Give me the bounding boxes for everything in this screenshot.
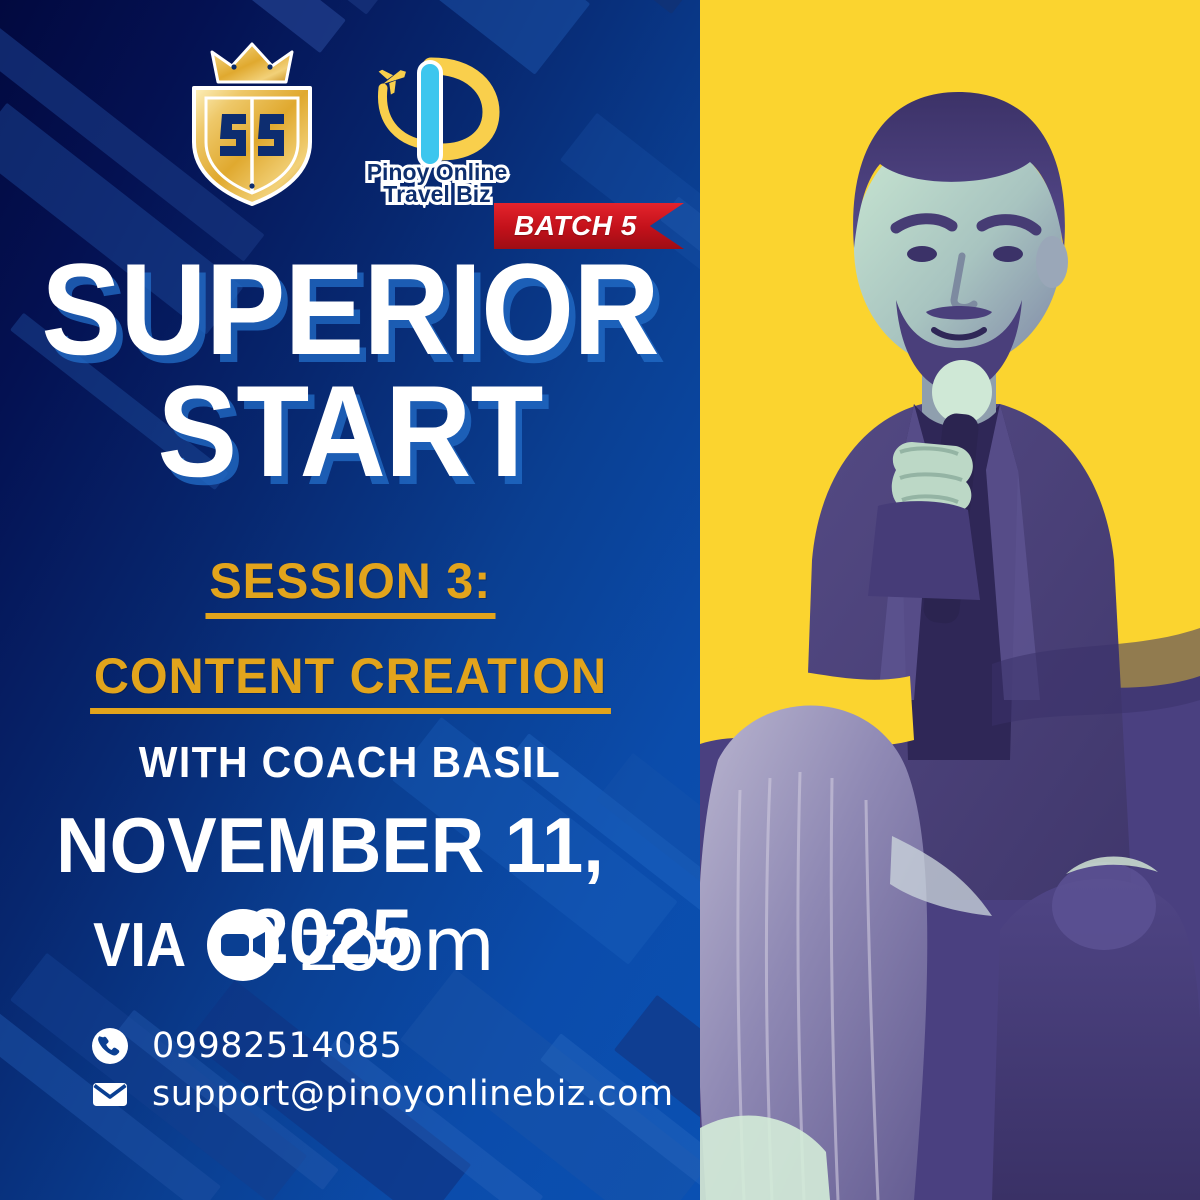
speaker-photo-panel [700,0,1200,1200]
decor-stripe [130,0,385,15]
left-content-panel: Pinoy Online Travel Biz BATCH 5 SUPERIOR… [0,0,700,1200]
event-flyer: Pinoy Online Travel Biz BATCH 5 SUPERIOR… [0,0,1200,1200]
superior-start-shield-logo [182,40,322,210]
logo-row: Pinoy Online Travel Biz [182,40,522,210]
decor-stripe [372,0,700,14]
session-line-2: CONTENT CREATION [90,647,611,714]
contact-list: 09982514085 support@pinoyonlinebiz.com [90,1026,674,1114]
via-label: VIA [93,910,186,981]
pob-wordmark-line2: Travel Biz [383,181,490,207]
platform-row: VIA zoom [88,908,493,982]
page-title: SUPERIOR START [0,252,700,489]
speaker-photo [700,0,1200,1200]
zoom-wordmark: zoom [299,908,492,982]
phone-icon [90,1026,130,1066]
session-line-1: SESSION 3: [205,552,495,619]
contact-row-email[interactable]: support@pinoyonlinebiz.com [90,1074,674,1114]
email-address: support@pinoyonlinebiz.com [152,1077,674,1112]
zoom-camera-icon [207,909,279,981]
coach-name: WITH COACH BASIL [25,738,676,788]
pinoy-online-travel-biz-logo: Pinoy Online Travel Biz [357,48,517,208]
title-line-1: SUPERIOR [28,252,672,366]
session-block: SESSION 3: CONTENT CREATION [0,552,700,714]
email-icon [90,1074,130,1114]
title-line-2: START [28,374,672,488]
decor-stripe [548,0,700,9]
contact-row-phone[interactable]: 09982514085 [90,1026,674,1066]
phone-number: 09982514085 [152,1029,402,1064]
